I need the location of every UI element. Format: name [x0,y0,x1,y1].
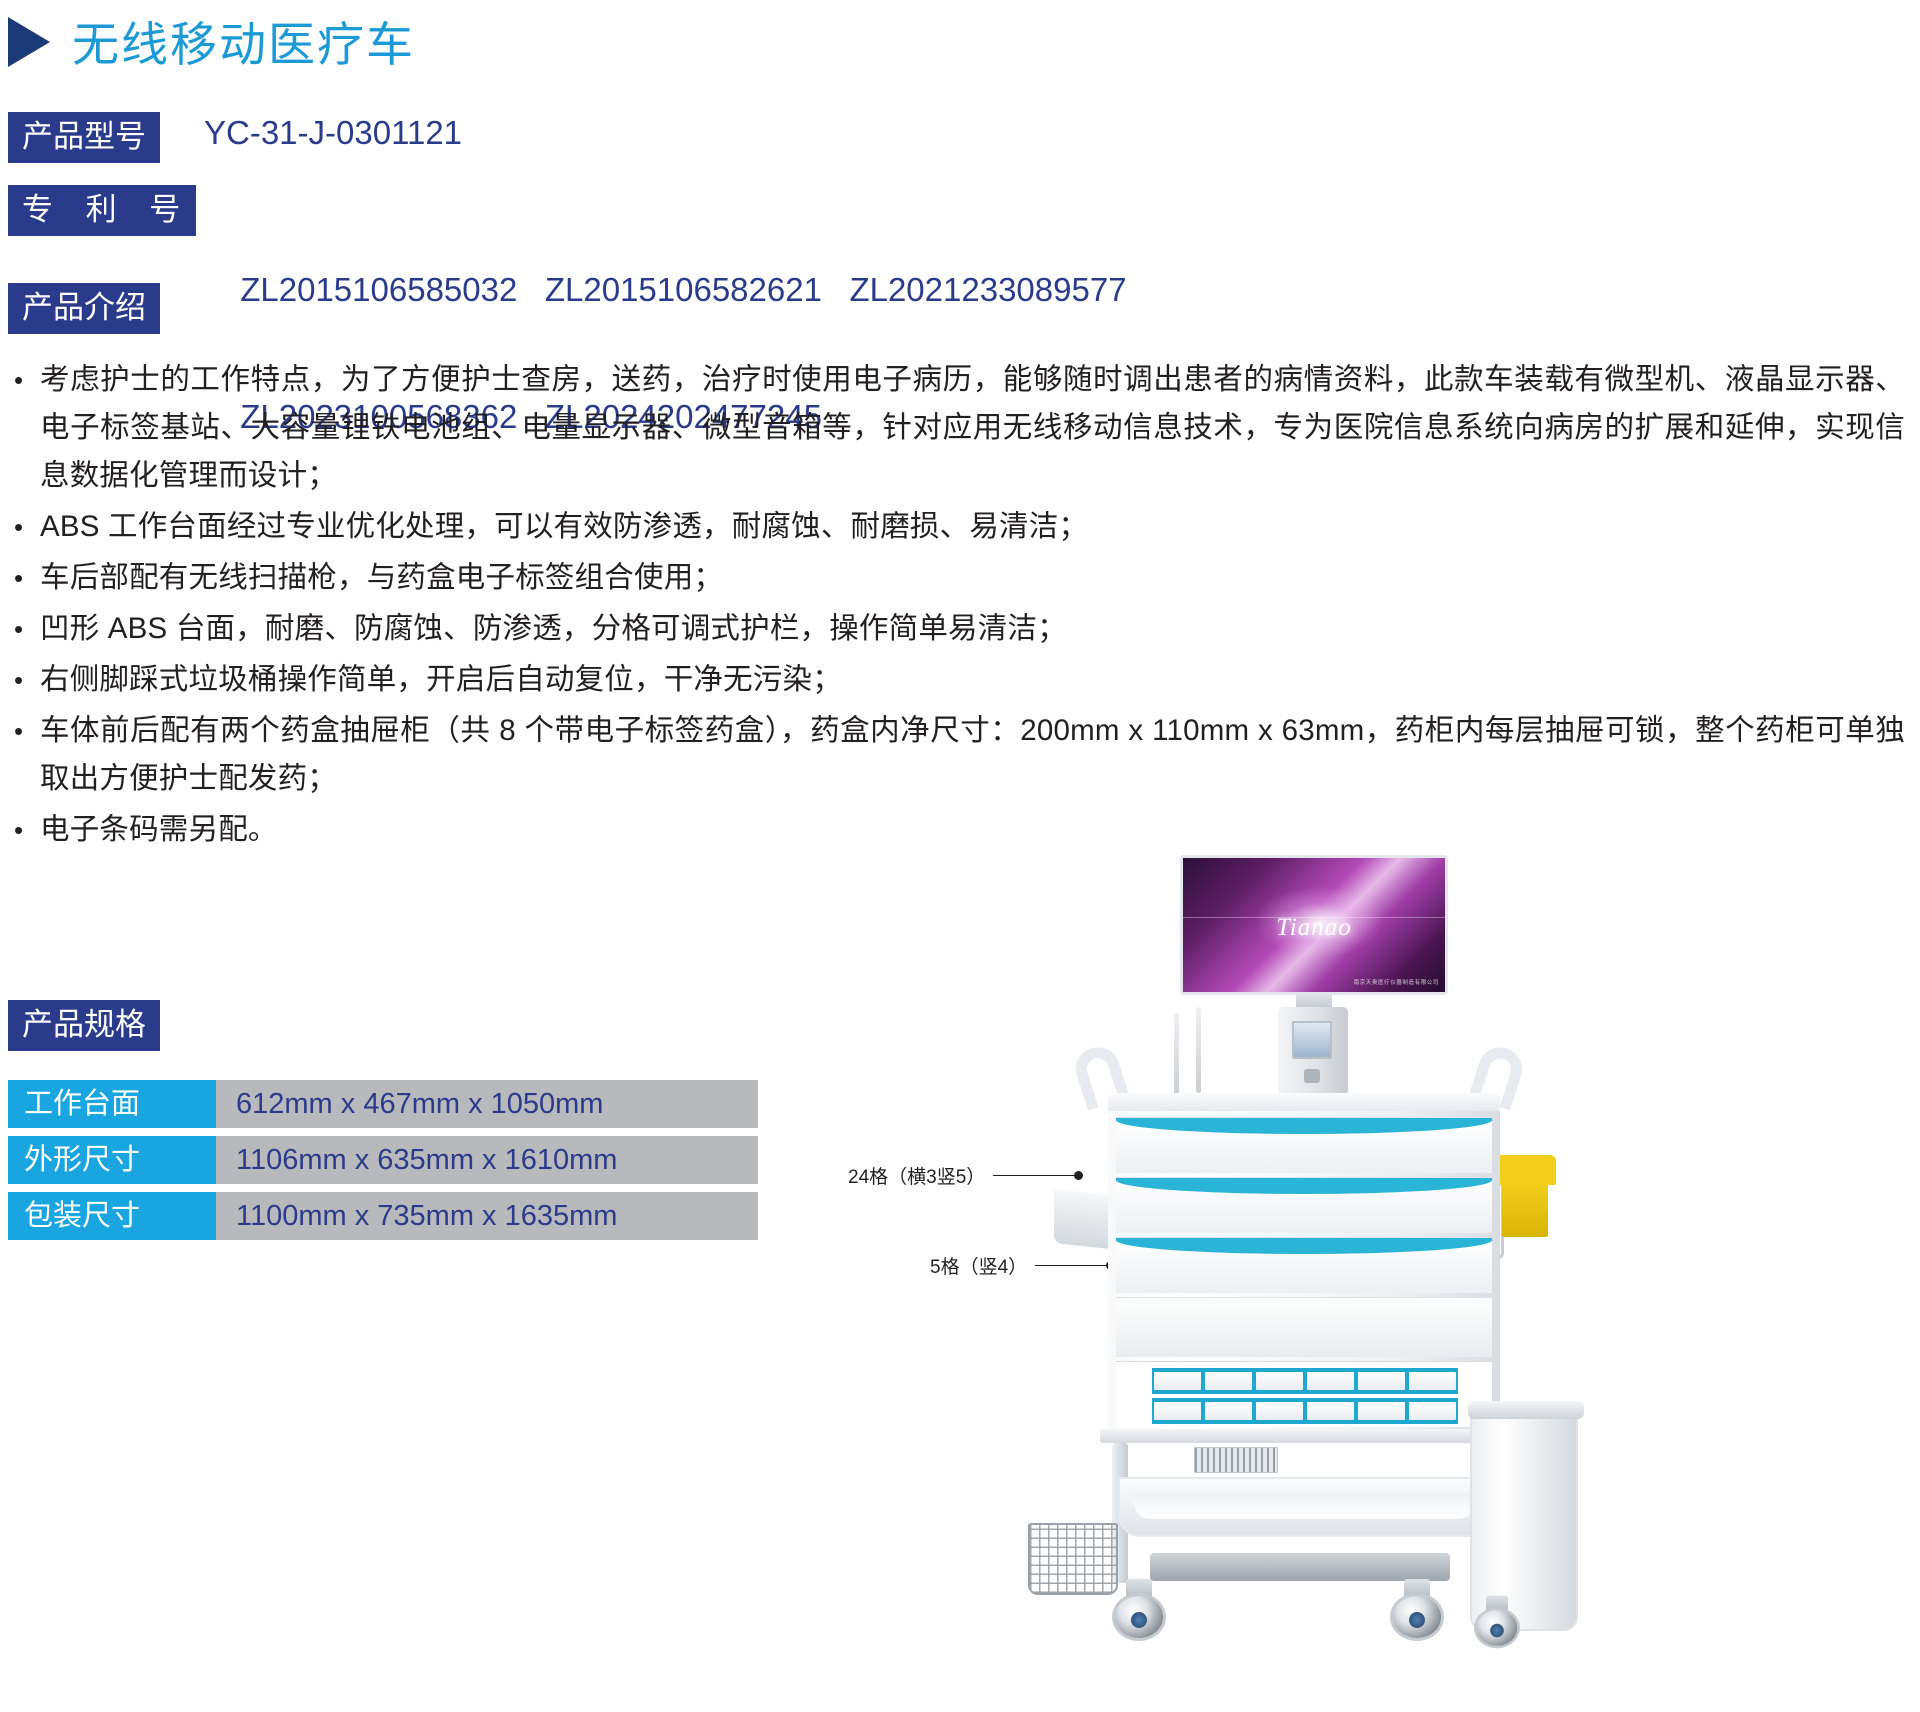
antenna-icon [1196,1007,1201,1093]
page-title-text: 无线移动医疗车 [72,6,415,75]
table-row: 包装尺寸 1100mm x 735mm x 1635mm [8,1192,758,1240]
monitor-brand-logo: Tianao [1183,914,1445,942]
product-model-label: 产品型号 [8,112,160,163]
list-item: • 电子条码需另配。 [14,806,1914,854]
caster-wheel [1112,1579,1166,1641]
trash-bin-lid [1468,1401,1584,1419]
bullet-dot-icon: • [14,605,40,653]
section-heading-specification: 产品规格 [8,1000,160,1051]
bullet-dot-icon: • [14,356,40,404]
caster-hub [1490,1624,1504,1638]
medicine-bin [1205,1372,1252,1390]
list-item-text: ABS 工作台面经过专业优化处理，可以有效防渗透，耐腐蚀、耐磨损、易清洁； [40,503,1088,551]
drawer-accent-stripe [1116,1238,1492,1254]
sharps-container [1494,1155,1556,1237]
medicine-bin [1307,1372,1354,1390]
page-title: 无线移动医疗车 [8,6,415,75]
medicine-bin [1256,1372,1303,1390]
cart-cabinet [1108,1111,1500,1429]
mid-shelf [1100,1429,1508,1443]
spec-label: 外形尺寸 [8,1136,216,1184]
list-item-text: 车体前后配有两个药盒抽屉柜（共 8 个带电子标签药盒），药盒内净尺寸：200mm… [40,707,1905,803]
base-frame [1150,1553,1450,1581]
list-item: • 考虑护士的工作特点，为了方便护士查房，送药，治疗时使用电子病历，能够随时调出… [14,356,1914,500]
medicine-bin [1154,1402,1201,1420]
triangle-right-icon [8,17,50,67]
list-item: • 右侧脚踩式垃圾桶操作简单，开启后自动复位，干净无污染； [14,656,1914,704]
product-photo: Tianao 南京天奥医疗仪器制造有限公司 [1000,855,1620,1705]
spec-label: 包装尺寸 [8,1192,216,1240]
specification-table: 工作台面 612mm x 467mm x 1050mm 外形尺寸 1106mm … [8,1080,758,1248]
battery-vent [1194,1447,1278,1473]
product-model-row: 产品型号 YC-31-J-0301121 [8,112,462,163]
handheld-scanner-dock [1278,1007,1348,1093]
table-row: 工作台面 612mm x 467mm x 1050mm [8,1080,758,1128]
medicine-bin-row [1152,1368,1458,1394]
caster-wheel [1390,1579,1444,1641]
list-item-text: 车后部配有无线扫描枪，与药盒电子标签组合使用； [40,554,723,602]
wire-basket [1028,1523,1118,1595]
list-item-text: 右侧脚踩式垃圾桶操作简单，开启后自动复位，干净无污染； [40,656,842,704]
medicine-bin-row [1152,1398,1458,1424]
section-heading-introduction: 产品介绍 [8,283,160,334]
scanner-button [1304,1069,1320,1083]
antenna-icon [1174,1013,1179,1099]
medicine-bin [1307,1402,1354,1420]
introduction-bullet-list: • 考虑护士的工作特点，为了方便护士查房，送药，治疗时使用电子病历，能够随时调出… [14,356,1914,857]
medicine-bin [1154,1372,1201,1390]
medicine-bin [1256,1402,1303,1420]
drawer-accent-stripe [1116,1118,1492,1134]
monitor-subtitle: 南京天奥医疗仪器制造有限公司 [1183,978,1439,986]
worktop-surface [1108,1093,1500,1113]
scanner-screen [1292,1021,1332,1059]
medicine-bin-rack [1116,1361,1492,1427]
caster-wheel [1474,1596,1520,1649]
list-item-text: 考虑护士的工作特点，为了方便护士查房，送药，治疗时使用电子病历，能够随时调出患者… [40,356,1905,500]
medicine-bin [1358,1372,1405,1390]
patent-number-label: 专 利 号 [8,185,196,236]
list-item: • 车后部配有无线扫描枪，与药盒电子标签组合使用； [14,554,1914,602]
caster-hub [1409,1612,1425,1628]
medicine-bin [1409,1372,1456,1390]
bullet-dot-icon: • [14,503,40,551]
drawer-accent-stripe [1116,1178,1492,1194]
medicine-bin [1409,1402,1456,1420]
bullet-dot-icon: • [14,806,40,854]
drawer [1116,1177,1492,1233]
product-model-value: YC-31-J-0301121 [204,112,462,154]
monitor-display: Tianao 南京天奥医疗仪器制造有限公司 [1180,855,1448,995]
callout-label: 24格（横3竖5） [848,1162,985,1189]
bullet-dot-icon: • [14,554,40,602]
bullet-dot-icon: • [14,707,40,755]
medicine-bin [1358,1402,1405,1420]
caster-hub [1131,1612,1147,1628]
list-item-text: 凹形 ABS 台面，耐磨、防腐蚀、防渗透，分格可调式护栏，操作简单易清洁； [40,605,1067,653]
spec-label: 工作台面 [8,1080,216,1128]
spec-value: 1106mm x 635mm x 1610mm [216,1136,758,1184]
drawer [1116,1117,1492,1173]
list-item: • ABS 工作台面经过专业优化处理，可以有效防渗透，耐腐蚀、耐磨损、易清洁； [14,503,1914,551]
bottom-basin [1118,1477,1490,1537]
sharps-body [1502,1181,1548,1237]
medicine-bin [1205,1402,1252,1420]
patent-line: ZL2015106585032 ZL2015106582621 ZL202123… [240,269,1126,311]
spec-value: 612mm x 467mm x 1050mm [216,1080,758,1128]
list-item-text: 电子条码需另配。 [40,806,278,854]
product-catalog-page: 无线移动医疗车 产品型号 YC-31-J-0301121 专 利 号 ZL201… [0,0,1920,1712]
drawer [1116,1237,1492,1293]
drawer-plain [1116,1297,1492,1357]
list-item: • 凹形 ABS 台面，耐磨、防腐蚀、防渗透，分格可调式护栏，操作简单易清洁； [14,605,1914,653]
table-row: 外形尺寸 1106mm x 635mm x 1610mm [8,1136,758,1184]
bullet-dot-icon: • [14,656,40,704]
list-item: • 车体前后配有两个药盒抽屉柜（共 8 个带电子标签药盒），药盒内净尺寸：200… [14,707,1914,803]
spec-value: 1100mm x 735mm x 1635mm [216,1192,758,1240]
